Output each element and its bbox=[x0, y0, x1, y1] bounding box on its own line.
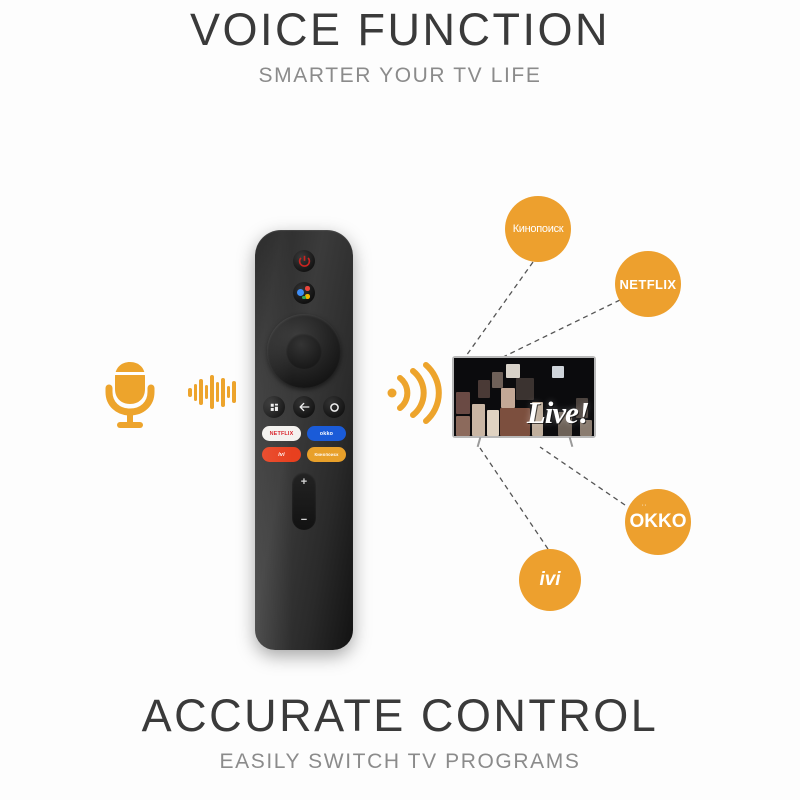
waveform-bar bbox=[232, 381, 236, 403]
power-icon bbox=[298, 255, 311, 268]
back-arrow-icon bbox=[299, 402, 310, 412]
voice-waveform-icon bbox=[188, 368, 236, 416]
okko-diacritic: ·· bbox=[642, 504, 647, 509]
tv-content-tile bbox=[552, 366, 564, 378]
tv-leg bbox=[477, 437, 481, 447]
app-bubble-label: Кинопоиск bbox=[513, 223, 564, 235]
apps-grid-icon bbox=[270, 403, 279, 412]
back-button[interactable] bbox=[293, 396, 315, 418]
tv-content-tile bbox=[500, 408, 530, 436]
assistant-dot-red bbox=[305, 286, 310, 291]
tv-content-tile bbox=[478, 380, 490, 398]
product-feature-banner: VOICE FUNCTION SMARTER YOUR TV LIFE bbox=[0, 0, 800, 800]
app-bubble-netflix[interactable]: NETFLIX bbox=[615, 251, 681, 317]
tv-screen: Live! bbox=[454, 358, 594, 436]
page-title: VOICE FUNCTION bbox=[0, 4, 800, 56]
tv-content-tile bbox=[492, 372, 503, 388]
tv-content-tile bbox=[501, 388, 515, 408]
app-bubble-ivi[interactable]: ivi bbox=[519, 549, 581, 611]
home-circle-icon bbox=[329, 402, 340, 413]
waveform-bar bbox=[199, 379, 203, 405]
volume-rocker[interactable]: + − bbox=[292, 472, 316, 530]
tv-content-tile bbox=[456, 392, 470, 414]
assistant-dot-blue bbox=[297, 289, 304, 296]
waveform-bar bbox=[227, 386, 231, 398]
app-bubble-label: OKKO bbox=[630, 511, 687, 533]
app-shortcut-buttons: NETFLIX okko ivi Кинопоиск bbox=[262, 426, 346, 468]
waveform-bar bbox=[221, 378, 225, 407]
app-shortcut-okko[interactable]: okko bbox=[307, 426, 346, 441]
footer-subtitle: EASILY SWITCH TV PROGRAMS bbox=[0, 742, 800, 782]
app-bubble-label: ivi bbox=[539, 569, 560, 591]
voice-remote-control[interactable]: NETFLIX okko ivi Кинопоиск + − bbox=[255, 230, 353, 650]
header-block: VOICE FUNCTION SMARTER YOUR TV LIFE bbox=[0, 4, 800, 96]
waveform-bar bbox=[205, 385, 209, 399]
page-subtitle: SMARTER YOUR TV LIFE bbox=[0, 56, 800, 96]
assistant-dot-green bbox=[302, 296, 306, 300]
directional-pad[interactable] bbox=[267, 314, 341, 388]
waveform-bar bbox=[210, 375, 214, 409]
ok-button[interactable] bbox=[286, 333, 322, 369]
app-shortcut-ivi[interactable]: ivi bbox=[262, 447, 301, 462]
tv-content-tile bbox=[472, 404, 485, 436]
waveform-bar bbox=[194, 384, 198, 401]
app-shortcut-kinopoisk[interactable]: Кинопоиск bbox=[307, 447, 346, 462]
app-bubble-kinopoisk[interactable]: Кинопоиск bbox=[505, 196, 571, 262]
app-shortcut-row: ivi Кинопоиск bbox=[262, 447, 346, 462]
app-shortcut-row: NETFLIX okko bbox=[262, 426, 346, 441]
assistant-dot-yellow bbox=[305, 294, 310, 299]
home-button[interactable] bbox=[323, 396, 345, 418]
tv-frame: Live! bbox=[452, 356, 596, 438]
tv-leg bbox=[569, 437, 573, 447]
footer-title: ACCURATE CONTROL bbox=[0, 690, 800, 742]
smart-tv: Live! bbox=[452, 356, 596, 448]
waveform-bar bbox=[188, 388, 192, 397]
tv-content-tile bbox=[487, 410, 499, 436]
microphone-icon bbox=[100, 358, 160, 430]
volume-down-button[interactable]: − bbox=[301, 515, 307, 525]
tv-content-tile bbox=[506, 364, 520, 378]
app-shortcut-netflix[interactable]: NETFLIX bbox=[262, 426, 301, 441]
volume-up-button[interactable]: + bbox=[301, 477, 307, 487]
nav-button-row bbox=[263, 396, 345, 418]
app-bubble-label: NETFLIX bbox=[620, 277, 677, 292]
tv-content-tile bbox=[456, 416, 470, 436]
wireless-signal-icon bbox=[386, 362, 448, 424]
waveform-bar bbox=[216, 382, 220, 402]
google-assistant-button[interactable] bbox=[293, 282, 315, 304]
power-button[interactable] bbox=[293, 250, 315, 272]
tv-screen-text: Live! bbox=[527, 397, 589, 428]
apps-button[interactable] bbox=[263, 396, 285, 418]
app-bubble-okko[interactable]: ·· OKKO bbox=[625, 489, 691, 555]
footer-block: ACCURATE CONTROL EASILY SWITCH TV PROGRA… bbox=[0, 690, 800, 782]
